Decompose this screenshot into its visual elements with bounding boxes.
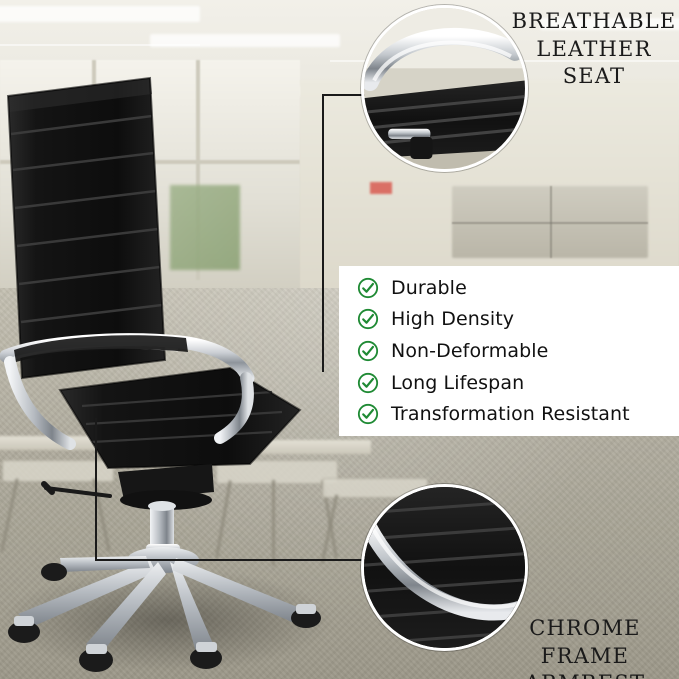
feature-item: High Density	[357, 304, 679, 336]
feature-label: Long Lifespan	[391, 372, 524, 394]
exit-sign	[370, 182, 392, 194]
feature-item: Transformation Resistant	[357, 398, 679, 430]
callout-breathable-leather-seat	[361, 5, 528, 172]
check-circle-icon	[357, 403, 379, 425]
check-circle-icon	[357, 277, 379, 299]
feature-label: Non-Deformable	[391, 340, 548, 362]
ceiling-seam	[0, 44, 200, 46]
feature-item: Non-Deformable	[357, 335, 679, 367]
check-circle-icon	[357, 340, 379, 362]
chair-backrest	[8, 78, 165, 378]
office-chair-product	[0, 60, 360, 679]
check-circle-icon	[357, 372, 379, 394]
feature-item: Long Lifespan	[357, 367, 679, 399]
ceiling-light-panel	[0, 6, 200, 22]
callout-label-bottom: CHROME FRAME ARMREST	[492, 615, 678, 679]
cabinet-seam	[550, 186, 552, 258]
feature-label: Transformation Resistant	[391, 403, 630, 425]
feature-list-panel: Durable High Density Non-Deformable Long…	[339, 266, 679, 436]
feature-item: Durable	[357, 272, 679, 304]
check-circle-icon	[357, 308, 379, 330]
feature-label: High Density	[391, 308, 514, 330]
tilt-lever	[46, 488, 110, 496]
callout-label-top: BREATHABLE LEATHER SEAT	[510, 8, 678, 91]
callout-top-detail	[364, 8, 525, 169]
feature-label: Durable	[391, 277, 467, 299]
chair-shadow	[3, 568, 333, 672]
product-infographic-image: Durable High Density Non-Deformable Long…	[0, 0, 679, 679]
